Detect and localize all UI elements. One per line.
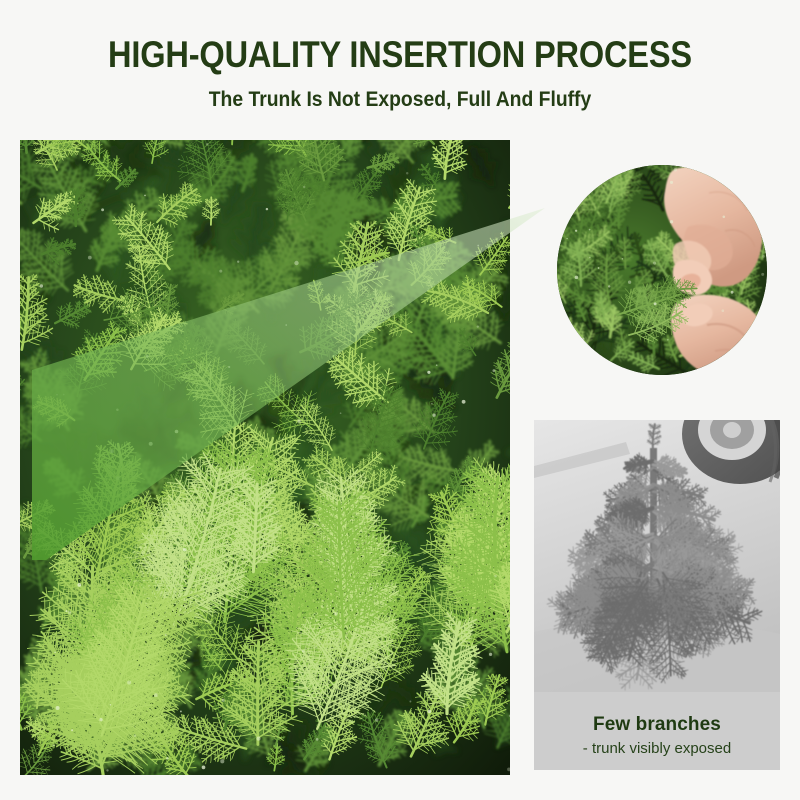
marketing-infographic: HIGH-QUALITY INSERTION PROCESS The Trunk…	[0, 0, 800, 800]
caption-detail: - trunk visibly exposed	[583, 740, 731, 757]
caption-title: Few branches	[593, 714, 721, 736]
detail-circle-inset	[557, 165, 767, 375]
page-subtitle: The Trunk Is Not Exposed, Full And Fluff…	[32, 88, 768, 112]
comparison-panel: Few branches - trunk visibly exposed	[534, 420, 780, 770]
sparse-tree-photo	[534, 420, 780, 692]
hero-foliage-photo	[20, 140, 510, 775]
comparison-caption: Few branches - trunk visibly exposed	[534, 692, 780, 770]
page-title: HIGH-QUALITY INSERTION PROCESS	[48, 34, 752, 76]
